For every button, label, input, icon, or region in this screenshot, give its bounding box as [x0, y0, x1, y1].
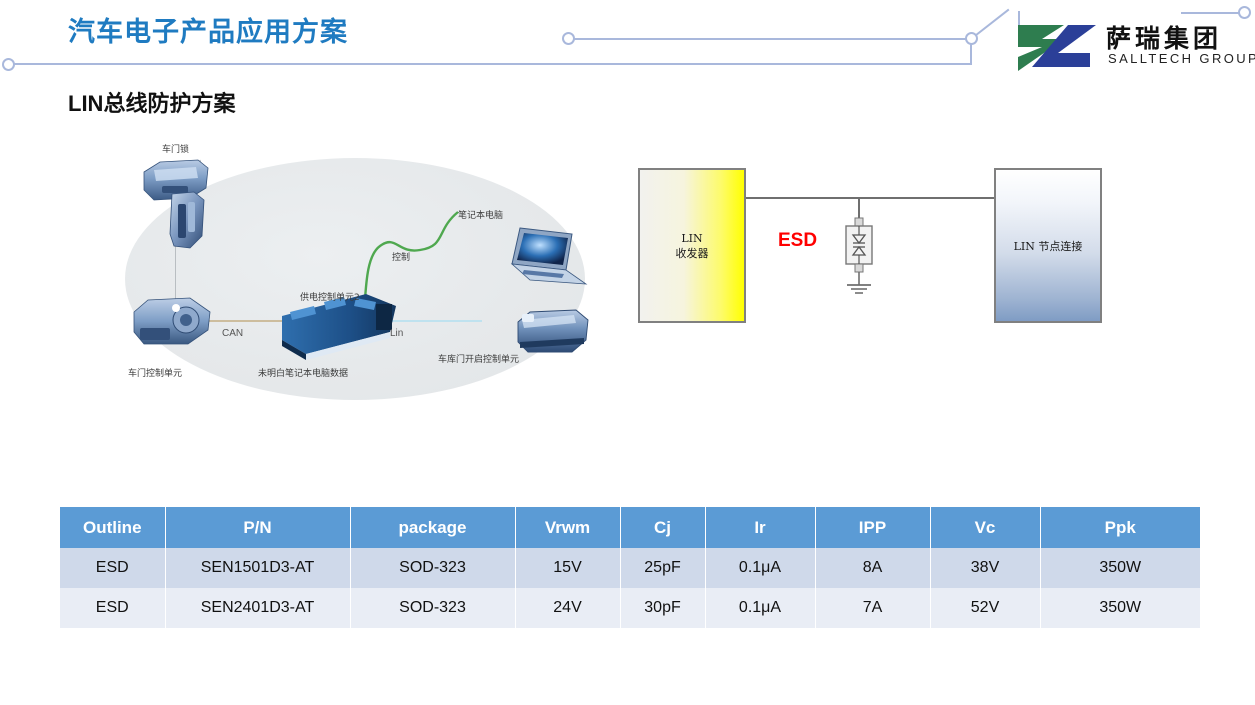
lin-transceiver-label-line2: 收发器: [676, 247, 709, 260]
table-header-vrwm: Vrwm: [515, 507, 620, 548]
header-trace-lower: [14, 63, 972, 65]
cell-ipp: 8A: [815, 548, 930, 588]
cell-cj: 30pF: [620, 588, 705, 628]
table-header-row: Outline P/N package Vrwm Cj Ir IPP Vc Pp…: [60, 507, 1200, 548]
cell-cj: 25pF: [620, 548, 705, 588]
illustration-label-door-control-unit: 车门控制单元: [128, 366, 182, 379]
illustration-label-laptop-data: 未明白笔记本电脑数据: [258, 366, 348, 379]
cell-ir: 0.1μA: [705, 588, 815, 628]
esd-diode-component-icon: [842, 215, 876, 297]
lin-node-label: LIN 节点连接: [996, 240, 1100, 255]
cell-ir: 0.1μA: [705, 548, 815, 588]
cell-ppk: 350W: [1040, 548, 1200, 588]
lin-transceiver-block: LIN 收发器: [638, 168, 746, 323]
door-control-unit-device-icon: [130, 290, 216, 352]
table-header-vc: Vc: [930, 507, 1040, 548]
lin-transceiver-label-line1: LIN: [681, 232, 702, 245]
cell-ipp: 7A: [815, 588, 930, 628]
illustration-label-laptop: 笔记本电脑: [458, 208, 503, 221]
header-trace-topright: [1181, 12, 1239, 14]
cell-outline: ESD: [60, 588, 165, 628]
table-header-package: package: [350, 507, 515, 548]
esd-label: ESD: [778, 230, 817, 252]
table-header-ppk: Ppk: [1040, 507, 1200, 548]
table-header-outline: Outline: [60, 507, 165, 548]
cell-ppk: 350W: [1040, 588, 1200, 628]
illustration-label-door-lock: 车门锁: [162, 142, 189, 155]
automotive-network-illustration: 车门锁 笔记本电脑 控制 供电控制单元2 车门控制单元 未明白笔记本电脑数据 车…: [110, 140, 600, 400]
table-header-pn: P/N: [165, 507, 350, 548]
company-logo: 萨瑞集团 SALLTECH GROUP: [1012, 20, 1244, 76]
cell-vrwm: 24V: [515, 588, 620, 628]
trace-node-mid: [562, 32, 575, 45]
trace-node-junction: [965, 32, 978, 45]
cell-package: SOD-323: [350, 588, 515, 628]
lin-node-block: LIN 节点连接: [994, 168, 1102, 323]
salltech-mark-icon: [1012, 23, 1098, 73]
laptop-device-icon: [502, 226, 588, 290]
page-title: 汽车电子产品应用方案: [68, 10, 348, 49]
door-latch-device-icon: [164, 190, 210, 252]
trace-node-left: [2, 58, 15, 71]
cell-vc: 52V: [930, 588, 1040, 628]
illustration-label-control: 控制: [392, 250, 410, 263]
cell-package: SOD-323: [350, 548, 515, 588]
illustration-label-garage-unit: 车库门开启控制单元: [438, 352, 519, 365]
trace-node-topright: [1238, 6, 1251, 19]
page-header: 汽车电子产品应用方案 萨瑞集团 SALLTECH GROUP: [0, 0, 1255, 95]
cell-pn: SEN1501D3-AT: [165, 548, 350, 588]
table-header-cj: Cj: [620, 507, 705, 548]
product-spec-table: Outline P/N package Vrwm Cj Ir IPP Vc Pp…: [60, 507, 1200, 628]
logo-name-en: SALLTECH GROUP: [1108, 51, 1255, 66]
wire-transceiver-to-node-left: [746, 197, 859, 199]
table-row: ESD SEN1501D3-AT SOD-323 15V 25pF 0.1μA …: [60, 548, 1200, 588]
cell-outline: ESD: [60, 548, 165, 588]
illustration-label-lin: Lin: [390, 328, 403, 339]
cell-pn: SEN2401D3-AT: [165, 588, 350, 628]
table-row: ESD SEN2401D3-AT SOD-323 24V 30pF 0.1μA …: [60, 588, 1200, 628]
header-trace-upper: [568, 38, 972, 40]
section-subtitle: LIN总线防护方案: [68, 86, 235, 118]
illustration-label-power-control-unit: 供电控制单元2: [300, 290, 360, 303]
table-header-ipp: IPP: [815, 507, 930, 548]
wire-transceiver-to-node-right: [859, 197, 994, 199]
garage-door-control-unit-device-icon: [514, 308, 592, 356]
illustration-label-can: CAN: [222, 328, 243, 339]
lin-protection-schematic: LIN 收发器 LIN 节点连接 ESD: [620, 155, 1120, 355]
cell-vrwm: 15V: [515, 548, 620, 588]
table-header-ir: Ir: [705, 507, 815, 548]
cell-vc: 38V: [930, 548, 1040, 588]
logo-name-cn: 萨瑞集团: [1106, 19, 1222, 55]
